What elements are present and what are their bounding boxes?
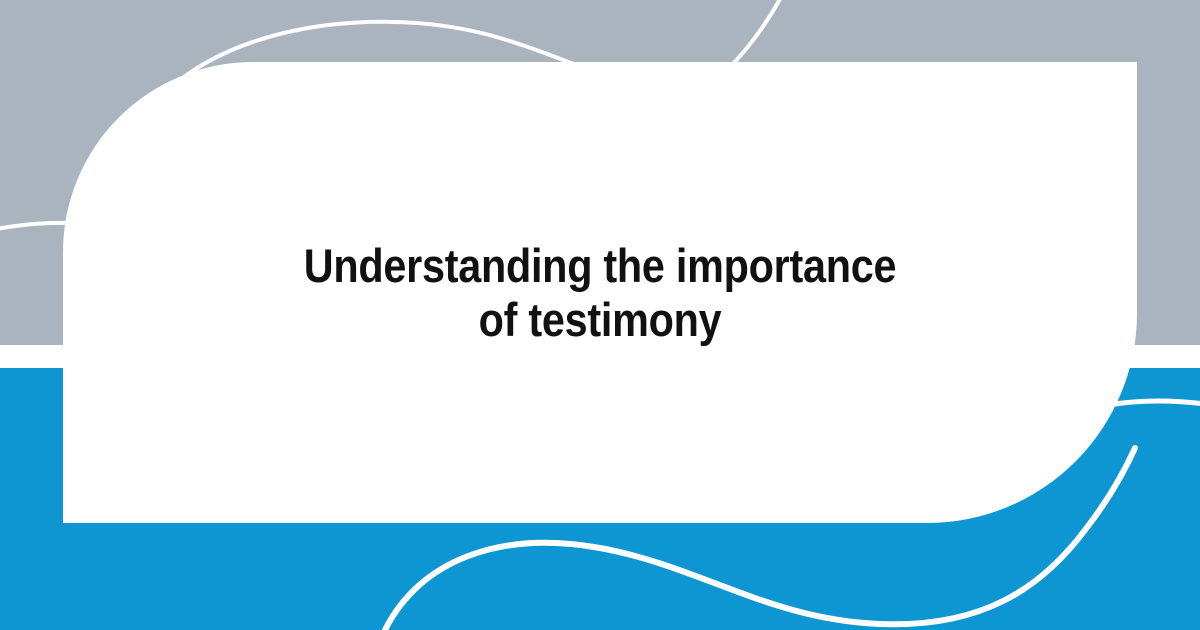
page-title: Understanding the importance of testimon… (266, 239, 935, 347)
card-inner: Understanding the importance of testimon… (220, 239, 980, 347)
content-card: Understanding the importance of testimon… (63, 62, 1137, 523)
share-card-poster: Understanding the importance of testimon… (0, 0, 1200, 630)
